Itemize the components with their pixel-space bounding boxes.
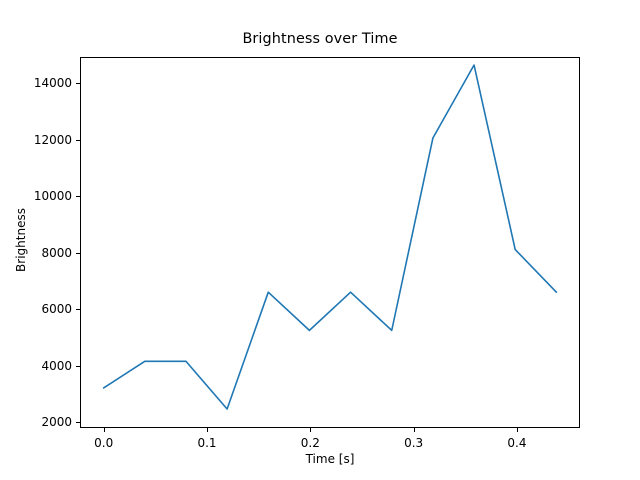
y-axis-tick-label: 2000 xyxy=(41,415,72,429)
x-axis-tick-label: 0.4 xyxy=(507,436,526,450)
y-axis-label: Brightness xyxy=(0,0,14,480)
plot-axes: 20004000600080001000012000140000.00.10.2… xyxy=(80,57,580,428)
chart-title: Brightness over Time xyxy=(0,31,640,47)
x-axis-label: Time [s] xyxy=(80,452,580,466)
x-axis-tick xyxy=(414,427,415,432)
y-axis-tick-label: 6000 xyxy=(41,302,72,316)
y-axis-tick-label: 10000 xyxy=(34,189,72,203)
y-axis-tick-label: 4000 xyxy=(41,359,72,373)
y-axis-tick-label: 12000 xyxy=(34,133,72,147)
y-axis-tick xyxy=(76,366,81,367)
y-axis-tick xyxy=(76,140,81,141)
y-axis-label-text: Brightness xyxy=(14,208,28,272)
x-axis-tick xyxy=(207,427,208,432)
x-axis-tick-label: 0.0 xyxy=(94,436,113,450)
figure-canvas: Brightness over Time 2000400060008000100… xyxy=(0,0,640,480)
x-axis-tick xyxy=(517,427,518,432)
x-axis-tick-label: 0.2 xyxy=(301,436,320,450)
brightness-line xyxy=(104,65,557,409)
x-axis-tick-label: 0.1 xyxy=(197,436,216,450)
y-axis-tick xyxy=(76,83,81,84)
line-plot-svg xyxy=(81,58,579,427)
x-axis-tick xyxy=(104,427,105,432)
y-axis-tick xyxy=(76,196,81,197)
y-axis-tick-label: 14000 xyxy=(34,76,72,90)
x-axis-tick-label: 0.3 xyxy=(404,436,423,450)
y-axis-tick xyxy=(76,422,81,423)
y-axis-tick xyxy=(76,309,81,310)
y-axis-tick xyxy=(76,253,81,254)
y-axis-tick-label: 8000 xyxy=(41,246,72,260)
x-axis-tick xyxy=(310,427,311,432)
